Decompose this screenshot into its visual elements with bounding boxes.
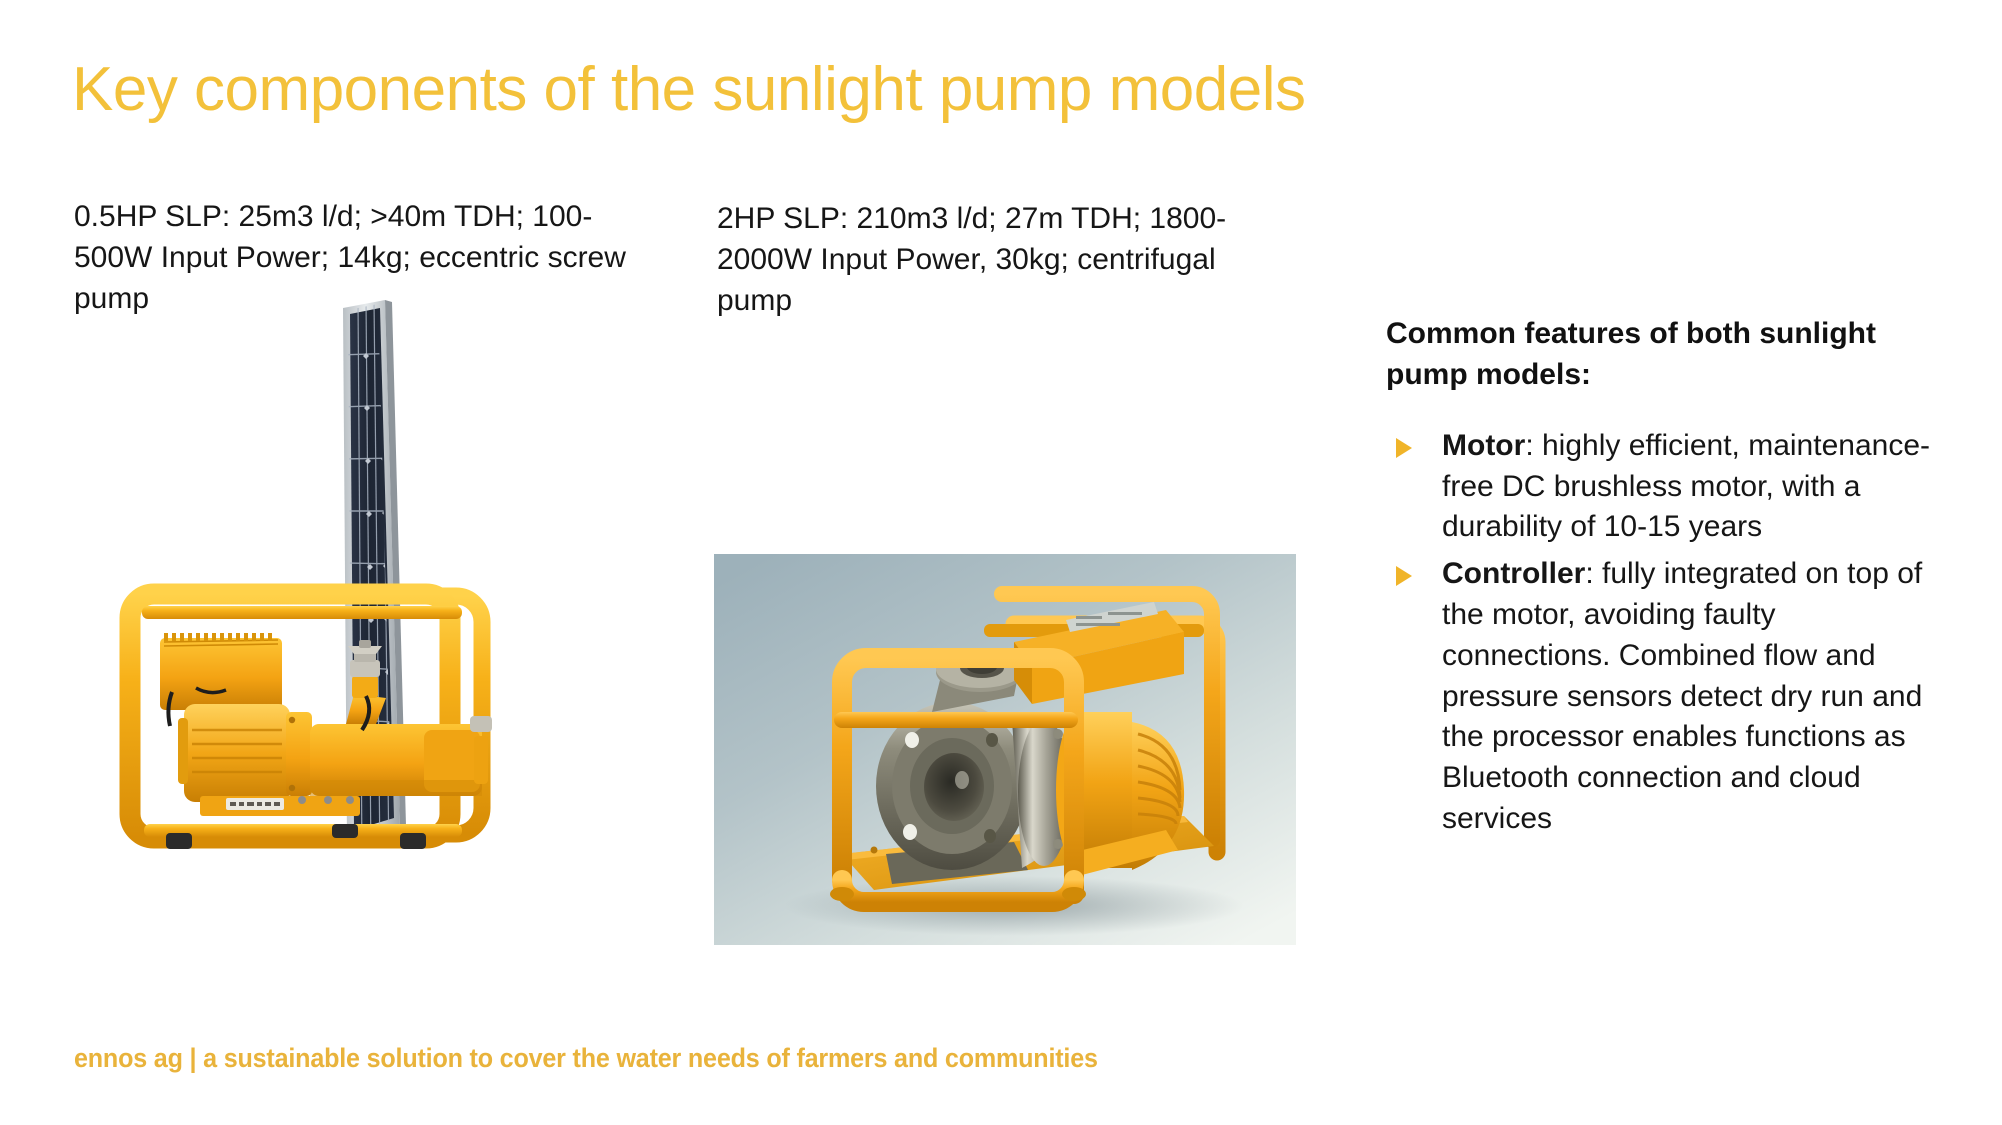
feature-separator: : — [1585, 557, 1602, 590]
feature-item-controller: Controller: fully integrated on top of t… — [1386, 554, 1946, 840]
spec-text-2hp: 2HP SLP: 210m3 l/d; 27m TDH; 1800-2000W … — [717, 199, 1295, 321]
feature-item-motor: Motor: highly efficient, maintenance-fre… — [1386, 426, 1946, 548]
page-title: Key components of the sunlight pump mode… — [72, 57, 1672, 124]
common-features-panel: Common features of both sunlight pump mo… — [1386, 313, 1946, 846]
feature-separator: : — [1525, 429, 1542, 462]
feature-term: Controller — [1442, 557, 1585, 590]
feature-text: fully integrated on top of the motor, av… — [1442, 557, 1922, 835]
dc-motor — [178, 704, 290, 802]
centrifugal-pump-photo — [714, 554, 1296, 945]
triangle-right-icon — [1396, 438, 1412, 458]
slide-footer: ennos ag | a sustainable solution to cov… — [74, 1043, 1098, 1074]
slide-canvas: Key components of the sunlight pump mode… — [0, 0, 2002, 1125]
common-features-list: Motor: highly efficient, maintenance-fre… — [1386, 426, 1946, 840]
solar-panel-and-screw-pump-photo — [100, 300, 660, 960]
triangle-right-icon — [1396, 566, 1412, 586]
common-features-heading: Common features of both sunlight pump mo… — [1386, 313, 1946, 396]
feature-term: Motor — [1442, 429, 1525, 462]
